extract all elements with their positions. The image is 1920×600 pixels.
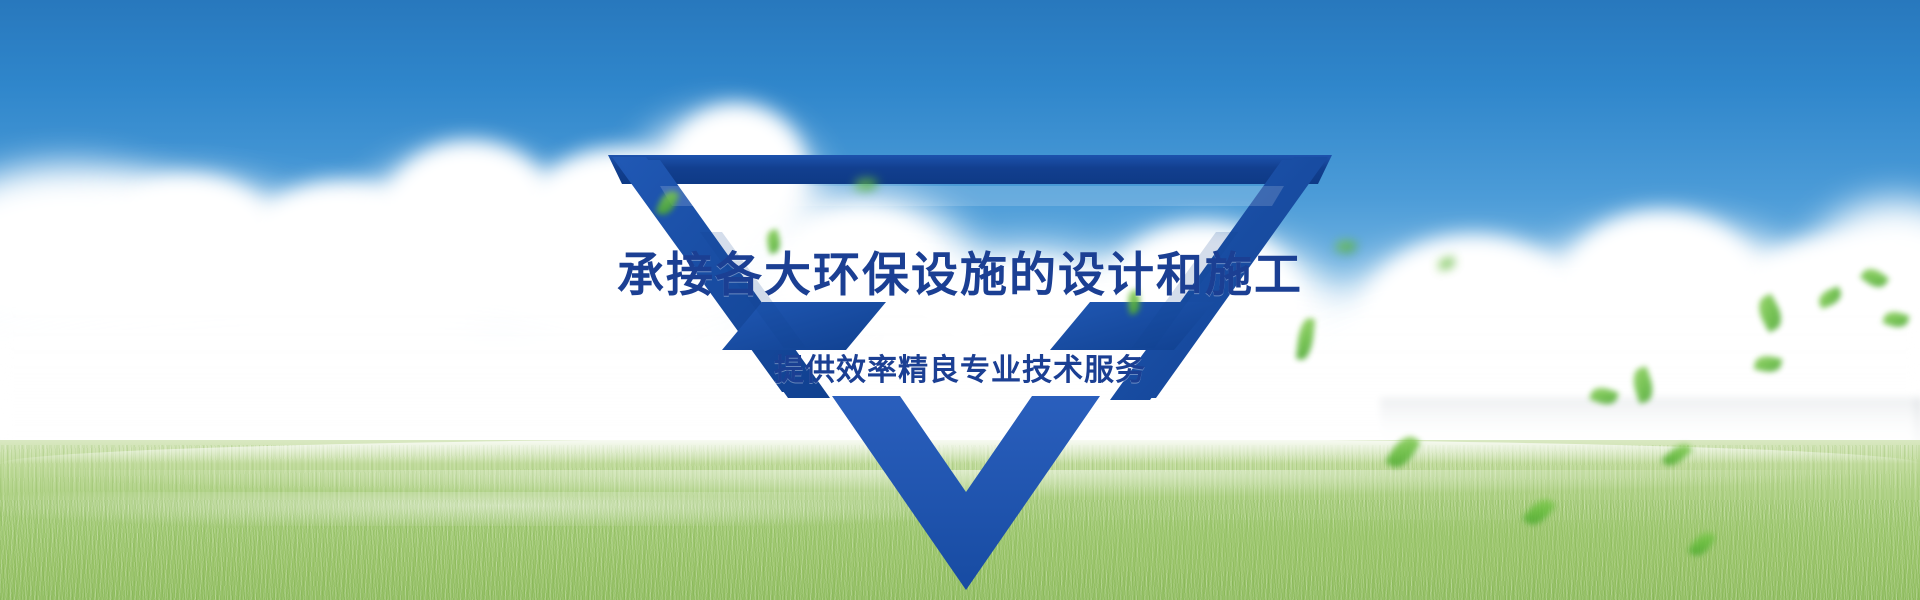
banner-headline: 承接各大环保设施的设计和施工 bbox=[0, 248, 1920, 302]
hero-banner: 承接各大环保设施的设计和施工 提供效率精良专业技术服务 bbox=[0, 0, 1920, 600]
grass-texture-foreground bbox=[0, 500, 1920, 600]
banner-subtitle: 提供效率精良专业技术服务 bbox=[0, 352, 1920, 390]
